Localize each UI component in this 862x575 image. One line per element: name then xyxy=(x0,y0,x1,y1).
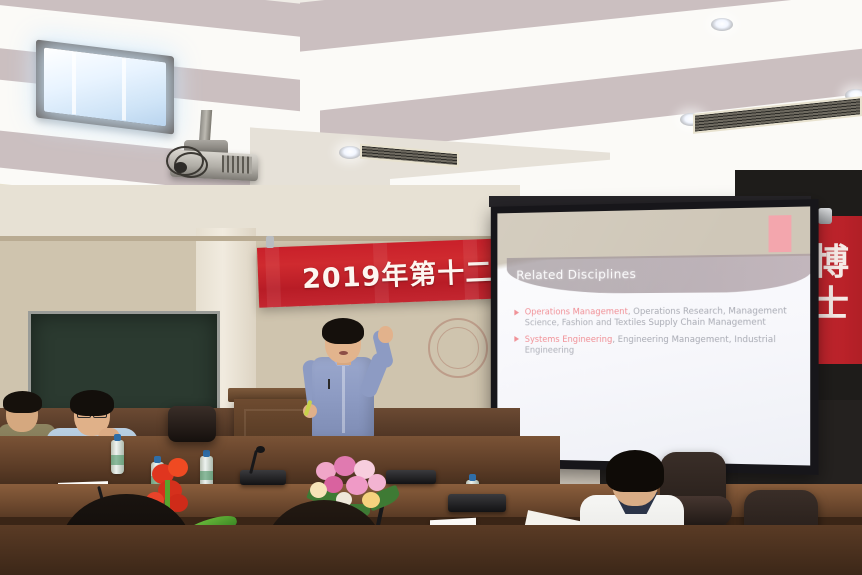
university-seal xyxy=(428,318,488,378)
slide-surface: Related Disciplines Operations Managemen… xyxy=(497,206,810,465)
list-item: Operations Management, Operations Resear… xyxy=(514,306,795,330)
slide-title: Related Disciplines xyxy=(516,266,636,282)
front-desk-panel xyxy=(0,525,862,575)
speaker-mouth xyxy=(339,351,348,355)
downlight-icon xyxy=(711,18,733,31)
bullet-triangle-icon xyxy=(514,336,519,342)
projection-screen: Related Disciplines Operations Managemen… xyxy=(491,199,819,475)
slide-top-band xyxy=(497,206,810,260)
speaker-right-hand xyxy=(378,326,393,343)
pocket-pen xyxy=(328,379,330,389)
bullet-highlight: Systems Engineering xyxy=(525,335,613,345)
slide-accent-box xyxy=(769,215,792,252)
event-banner-left: 2019年第十二届南 xyxy=(257,238,509,308)
speaker-shirt-placket xyxy=(342,363,345,433)
banner-clip xyxy=(818,208,832,224)
lecture-hall-photo: 2019年第十二届南 博士 Related Disciplines Operat… xyxy=(0,0,862,575)
speaker-shirt xyxy=(312,357,374,439)
speaker-hair xyxy=(322,318,364,344)
projector-vent xyxy=(222,155,252,174)
banner-clip xyxy=(266,236,274,248)
water-bottle xyxy=(111,440,124,474)
bullet-highlight: Operations Management xyxy=(525,307,628,317)
microphone-base xyxy=(448,494,506,512)
audience-hair xyxy=(606,450,664,492)
audience-hair xyxy=(3,391,42,413)
audience-hair xyxy=(70,390,114,416)
slide-bullet-list: Operations Management, Operations Resear… xyxy=(514,306,795,363)
office-chair xyxy=(168,406,216,442)
bullet-triangle-icon xyxy=(514,309,519,315)
downlight-icon xyxy=(339,146,361,159)
wall-trim xyxy=(0,236,500,241)
projector-lens xyxy=(174,162,187,173)
list-item: Systems Engineering, Engineering Managem… xyxy=(514,335,795,358)
